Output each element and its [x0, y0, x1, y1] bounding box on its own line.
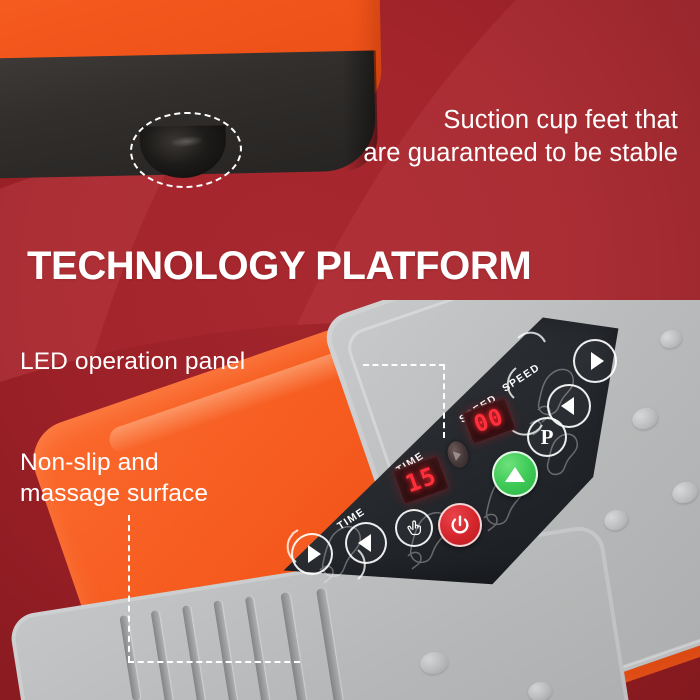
product-feature-infographic: SPEED SPEED TIME TIME 00 15 P Su [0, 0, 700, 700]
callout-led-operation-panel: LED operation panel [20, 347, 245, 377]
triangle-right-icon [591, 352, 604, 370]
callout-non-slip-surface: Non-slip and massage surface [20, 447, 310, 509]
time-led-value: 15 [402, 462, 441, 499]
hand-pointer-icon [406, 519, 423, 537]
program-button[interactable]: P [527, 417, 567, 457]
callout-suction-line2: are guaranteed to be stable [258, 137, 678, 170]
triangle-left-icon [358, 534, 371, 552]
callout-non-slip-line1: Non-slip and [20, 447, 310, 478]
callout-suction-line1: Suction cup feet that [258, 104, 678, 137]
speed-led-value: 00 [471, 404, 508, 439]
start-button[interactable] [492, 451, 538, 497]
triangle-right-icon [308, 545, 321, 563]
page-title: TECHNOLOGY PLATFORM [27, 243, 531, 289]
callout-suction-cup: Suction cup feet that are guaranteed to … [258, 104, 678, 170]
hand-mode-button[interactable] [395, 509, 433, 547]
triangle-left-icon [561, 397, 574, 415]
callout-non-slip-line2: massage surface [20, 478, 310, 509]
power-icon [449, 514, 471, 536]
speed-up-button[interactable] [573, 339, 617, 383]
time-up-button[interactable] [291, 533, 333, 575]
power-button[interactable] [438, 503, 482, 547]
triangle-up-icon [505, 467, 525, 482]
time-down-button[interactable] [345, 522, 387, 564]
program-letter-icon: P [541, 427, 554, 448]
